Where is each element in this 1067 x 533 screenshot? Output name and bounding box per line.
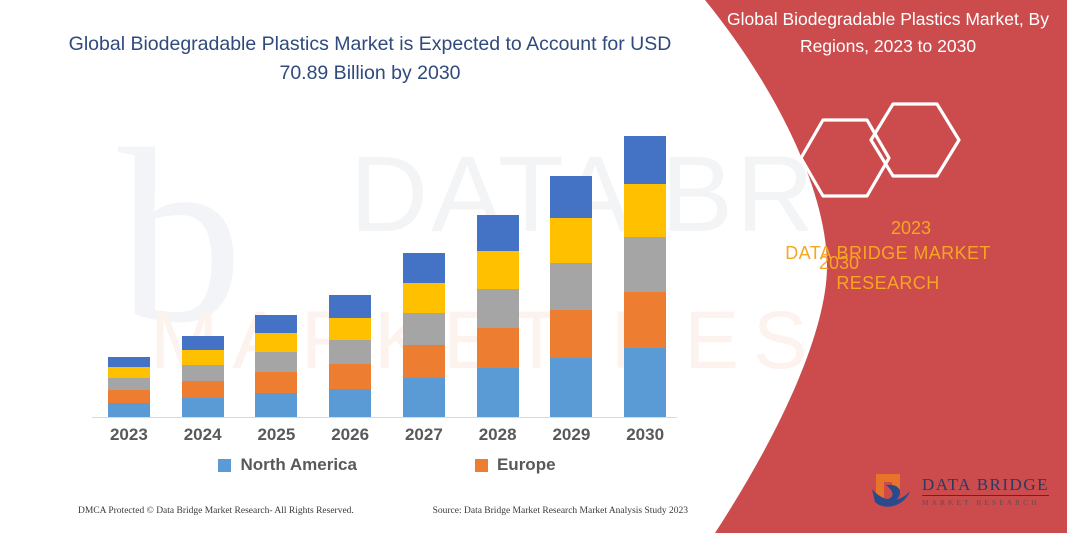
bar-segment (182, 398, 224, 417)
bar-segment (182, 381, 224, 398)
stacked-bar-2026 (329, 295, 371, 417)
bar-segment (255, 393, 297, 417)
logo-mark-icon (870, 471, 912, 511)
x-axis-label-2024: 2024 (166, 425, 240, 445)
x-axis-label-2023: 2023 (92, 425, 166, 445)
chart-legend: North AmericaEurope (92, 455, 682, 475)
bar-segment (108, 390, 150, 403)
bar-segment (624, 348, 666, 417)
bar-segment (255, 372, 297, 393)
bar-group (313, 120, 387, 417)
footer: DMCA Protected © Data Bridge Market Rese… (78, 506, 688, 516)
footer-source: Source: Data Bridge Market Research Mark… (433, 506, 688, 516)
bar-segment (477, 251, 519, 289)
bar-segment (624, 292, 666, 348)
bar-segment (403, 313, 445, 345)
bar-segment (403, 283, 445, 313)
bar-segment (550, 263, 592, 310)
bar-segment (182, 350, 224, 365)
bar-segment (550, 176, 592, 218)
bar-group (608, 120, 682, 417)
legend-label: North America (240, 455, 357, 475)
stacked-bar-2025 (255, 315, 297, 417)
x-axis-label-2027: 2027 (387, 425, 461, 445)
company-logo: DATA BRIDGE MARKET RESEARCH (870, 471, 1049, 511)
bar-segment (255, 333, 297, 352)
legend-item[interactable]: North America (218, 455, 357, 475)
hexagon-group: 2030 2023 (787, 96, 987, 216)
bar-segment (403, 378, 445, 417)
x-axis-label-2026: 2026 (313, 425, 387, 445)
stacked-bar-2029 (550, 176, 592, 417)
bar-segment (255, 352, 297, 372)
bar-group (387, 120, 461, 417)
stacked-bar-2024 (182, 336, 224, 417)
bar-segment (550, 218, 592, 263)
brand-line-1: DATA BRIDGE MARKET (743, 238, 1033, 268)
bar-segment (182, 336, 224, 350)
page-title: Global Biodegradable Plastics Market is … (60, 30, 680, 88)
legend-item[interactable]: Europe (475, 455, 556, 475)
brand-name: DATA BRIDGE MARKET RESEARCH (743, 238, 1033, 298)
x-axis-labels: 20232024202520262027202820292030 (92, 425, 682, 445)
bar-segment (329, 318, 371, 340)
bar-segment (477, 215, 519, 251)
bar-segment (550, 310, 592, 358)
bar-segment (550, 358, 592, 417)
bar-segment (329, 295, 371, 318)
bar-segment (624, 237, 666, 292)
bar-segment (403, 345, 445, 378)
x-axis-label-2028: 2028 (461, 425, 535, 445)
brand-line-2: RESEARCH (743, 268, 1033, 298)
stacked-bar-2027 (403, 253, 445, 417)
footer-copyright: DMCA Protected © Data Bridge Market Rese… (78, 506, 354, 516)
bar-segment (329, 389, 371, 417)
bar-segment (329, 340, 371, 364)
bar-group (166, 120, 240, 417)
hexagon-2023-label: 2023 (891, 218, 931, 239)
logo-sub-text: MARKET RESEARCH (922, 499, 1049, 507)
logo-text: DATA BRIDGE MARKET RESEARCH (922, 476, 1049, 507)
bar-segment (182, 365, 224, 381)
legend-swatch-icon (218, 459, 231, 472)
panel-title: Global Biodegradable Plastics Market, By… (723, 6, 1053, 60)
infographic-root: b DATA BRIDGE MARKET RESEARCH Global Bio… (0, 0, 1067, 533)
stacked-bar-2023 (108, 357, 150, 417)
bar-segment (477, 368, 519, 417)
bar-group (461, 120, 535, 417)
bar-segment (108, 378, 150, 390)
bar-segment (255, 315, 297, 333)
bar-group (535, 120, 609, 417)
stacked-bar-2028 (477, 215, 519, 417)
bar-segment (108, 357, 150, 367)
bar-segment (624, 184, 666, 237)
legend-swatch-icon (475, 459, 488, 472)
logo-divider (922, 495, 1049, 496)
legend-label: Europe (497, 455, 556, 475)
x-axis-line (92, 417, 677, 418)
bar-segment (477, 328, 519, 368)
stacked-bar-chart (92, 120, 682, 417)
bar-segment (329, 364, 371, 389)
bar-group (92, 120, 166, 417)
x-axis-label-2030: 2030 (608, 425, 682, 445)
logo-main-text: DATA BRIDGE (922, 476, 1049, 493)
x-axis-label-2029: 2029 (535, 425, 609, 445)
stacked-bar-2030 (624, 136, 666, 417)
bar-segment (108, 367, 150, 378)
bar-segment (403, 253, 445, 283)
hexagon-shapes (787, 96, 987, 216)
bar-group (240, 120, 314, 417)
bar-segment (477, 289, 519, 328)
bar-segment (624, 136, 666, 184)
x-axis-label-2025: 2025 (240, 425, 314, 445)
bar-segment (108, 403, 150, 417)
